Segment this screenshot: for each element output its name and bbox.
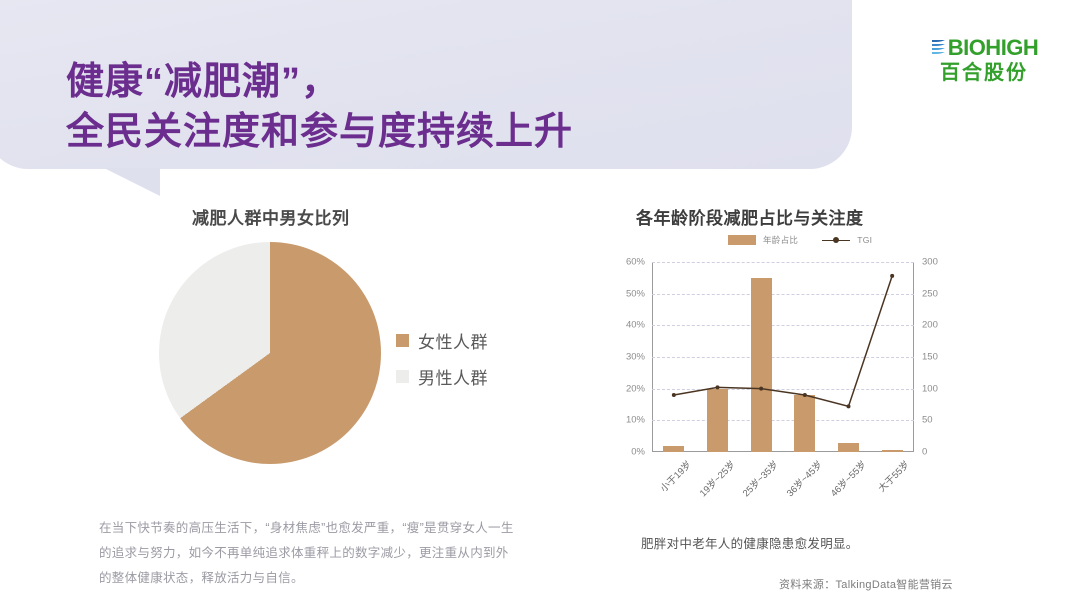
legend-label-male: 男性人群 [418,364,488,389]
bar-chart-panel: 各年龄阶段减肥占比与关注度 年龄占比 TGI 0%10%20%30%40%50%… [600,196,1000,496]
y-axis-right-tick-label: 100 [922,383,938,394]
pie-chart-title: 减肥人群中男女比列 [192,204,350,229]
pie-circle [159,242,381,464]
y-axis-right-tick-label: 0 [922,447,927,458]
stacked-bars-icon [930,38,947,58]
tgi-point-5 [890,274,894,278]
tgi-point-4 [847,404,851,408]
bar-chart-plot-area: 0%10%20%30%40%50%60% 050100150200250300 … [652,262,914,452]
bar-chart-title: 各年龄阶段减肥占比与关注度 [636,204,864,229]
x-axis-tick-label: 36岁~45岁 [783,457,825,499]
legend-label-female: 女性人群 [418,328,488,353]
bar-chart-legend: 年龄占比 TGI [728,234,872,246]
x-axis-tick-label: 大于55岁 [875,457,913,495]
x-axis-tick-label: 46岁~55岁 [826,457,868,499]
tgi-point-0 [672,393,676,397]
y-axis-right-tick-label: 250 [922,288,938,299]
y-axis-right-tick-label: 150 [922,352,938,363]
legend-label-age-share: 年龄占比 [763,234,798,246]
x-axis-tick-label: 25岁~35岁 [739,457,781,499]
legend-swatch-age-share [728,235,756,245]
y-axis-left-tick-label: 0% [631,447,645,458]
y-axis-left-tick-label: 20% [626,383,645,394]
legend-swatch-tgi [822,235,850,245]
y-axis-left-tick-label: 50% [626,288,645,299]
logo-chinese-name: 百合股份 [940,62,1028,84]
tgi-point-1 [716,385,720,389]
y-axis-right-tick-label: 50 [922,415,933,426]
header-bubble-tail-icon [104,168,160,196]
x-axis-tick-label: 小于19岁 [656,457,694,495]
tgi-point-2 [759,387,763,391]
page-title: 健康“减肥潮”， 全民关注度和参与度持续上升 [66,57,826,157]
company-logo: BIOHIGH 百合股份 [923,33,1045,85]
source-note: 资料来源：TalkingData智能营销云 [779,576,953,592]
y-axis-left-tick-label: 30% [626,352,645,363]
tgi-polyline [674,276,892,406]
legend-item-tgi: TGI [822,235,872,245]
pie-legend: 女性人群 男性人群 [396,328,488,389]
bar-panel-caption: 肥胖对中老年人的健康隐患愈发明显。 [641,533,859,552]
x-axis-tick-label: 19岁~25岁 [695,457,737,499]
pie-panel-caption: 在当下快节奏的高压生活下，“身材焦虑”也愈发严重，“瘦”是贯穿女人一生的追求与努… [99,516,514,591]
tgi-point-3 [803,393,807,397]
legend-item-male: 男性人群 [396,364,488,389]
logo-wordmark: BIOHIGH [948,37,1039,59]
legend-item-female: 女性人群 [396,328,488,353]
tgi-line-series [652,262,914,452]
y-axis-left-tick-label: 60% [626,257,645,268]
legend-label-tgi: TGI [857,235,872,245]
y-axis-right-tick-label: 300 [922,257,938,268]
legend-item-age-share: 年龄占比 [728,234,798,246]
pie-chart-panel: 减肥人群中男女比列 女性人群 男性人群 [96,196,516,496]
pie-chart-figure [159,242,381,464]
y-axis-left-tick-label: 10% [626,415,645,426]
y-axis-right-tick-label: 200 [922,320,938,331]
legend-swatch-female [396,334,409,347]
legend-swatch-male [396,370,409,383]
y-axis-left-tick-label: 40% [626,320,645,331]
